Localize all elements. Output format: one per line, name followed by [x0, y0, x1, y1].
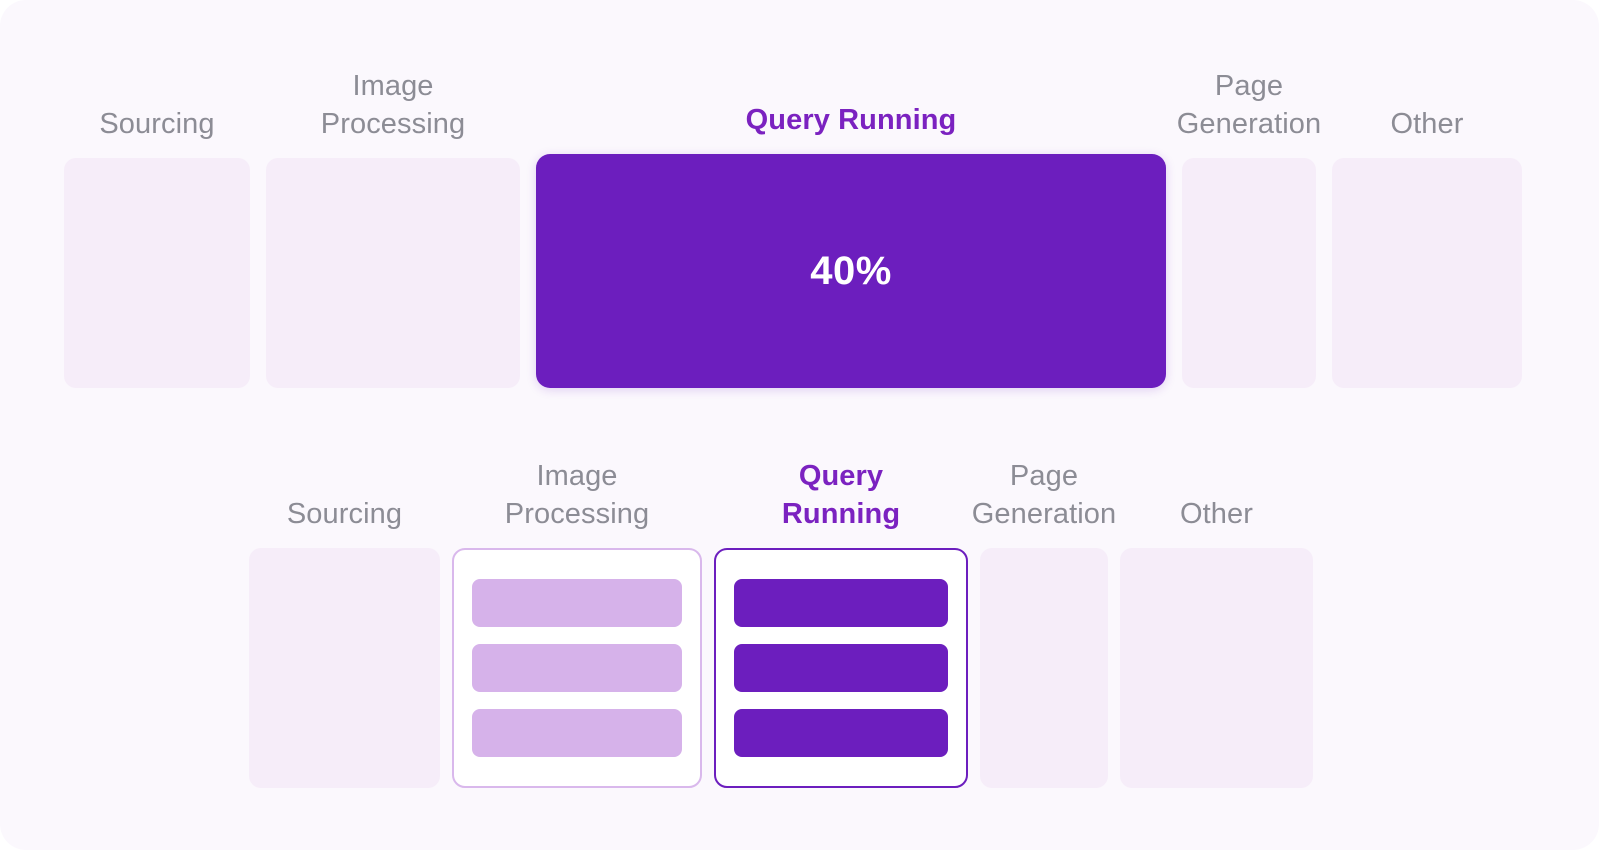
stage-label-sourcing: Sourcing	[99, 105, 214, 144]
detail-column-image-processing[interactable]: Image Processing	[452, 438, 702, 788]
screenshot-stage: Sourcing Image Processing Query Running …	[0, 0, 1599, 850]
task-bar[interactable]	[472, 709, 682, 757]
detail-row: Sourcing Image Processing Query Running	[249, 438, 1321, 788]
detail-label-sourcing: Sourcing	[287, 495, 402, 534]
stage-card-sourcing[interactable]	[64, 158, 250, 388]
task-bar[interactable]	[734, 579, 948, 627]
stage-card-other[interactable]	[1332, 158, 1522, 388]
overview-row: Sourcing Image Processing Query Running …	[64, 48, 1536, 388]
stage-label-other: Other	[1390, 105, 1463, 144]
detail-column-sourcing[interactable]: Sourcing	[249, 438, 440, 788]
detail-card-query-running[interactable]	[714, 548, 968, 788]
stage-label-page-generation: Page Generation	[1177, 67, 1322, 144]
detail-column-query-running[interactable]: Query Running	[714, 438, 968, 788]
stage-card-image-processing[interactable]	[266, 158, 520, 388]
task-bar[interactable]	[734, 644, 948, 692]
stage-column-image-processing[interactable]: Image Processing	[266, 48, 520, 388]
stage-column-other[interactable]: Other	[1332, 48, 1522, 388]
detail-card-image-processing[interactable]	[452, 548, 702, 788]
stage-card-page-generation[interactable]	[1182, 158, 1316, 388]
stage-column-sourcing[interactable]: Sourcing	[64, 48, 250, 388]
stage-card-query-running[interactable]: 40%	[536, 154, 1166, 388]
detail-card-other[interactable]	[1120, 548, 1313, 788]
stage-column-query-running[interactable]: Query Running 40%	[536, 48, 1166, 388]
detail-label-page-generation: Page Generation	[972, 457, 1117, 534]
detail-label-other: Other	[1180, 495, 1253, 534]
detail-column-other[interactable]: Other	[1120, 438, 1313, 788]
stage-label-image-processing: Image Processing	[321, 67, 465, 144]
detail-card-sourcing[interactable]	[249, 548, 440, 788]
task-bar[interactable]	[472, 579, 682, 627]
progress-percent-label: 40%	[810, 249, 892, 294]
detail-column-page-generation[interactable]: Page Generation	[980, 438, 1108, 788]
detail-label-query-running: Query Running	[782, 457, 900, 534]
stage-label-query-running: Query Running	[746, 101, 957, 140]
stage-column-page-generation[interactable]: Page Generation	[1182, 48, 1316, 388]
detail-label-image-processing: Image Processing	[505, 457, 649, 534]
task-bar[interactable]	[734, 709, 948, 757]
task-bar[interactable]	[472, 644, 682, 692]
detail-card-page-generation[interactable]	[980, 548, 1108, 788]
pipeline-panel: Sourcing Image Processing Query Running …	[0, 0, 1599, 850]
